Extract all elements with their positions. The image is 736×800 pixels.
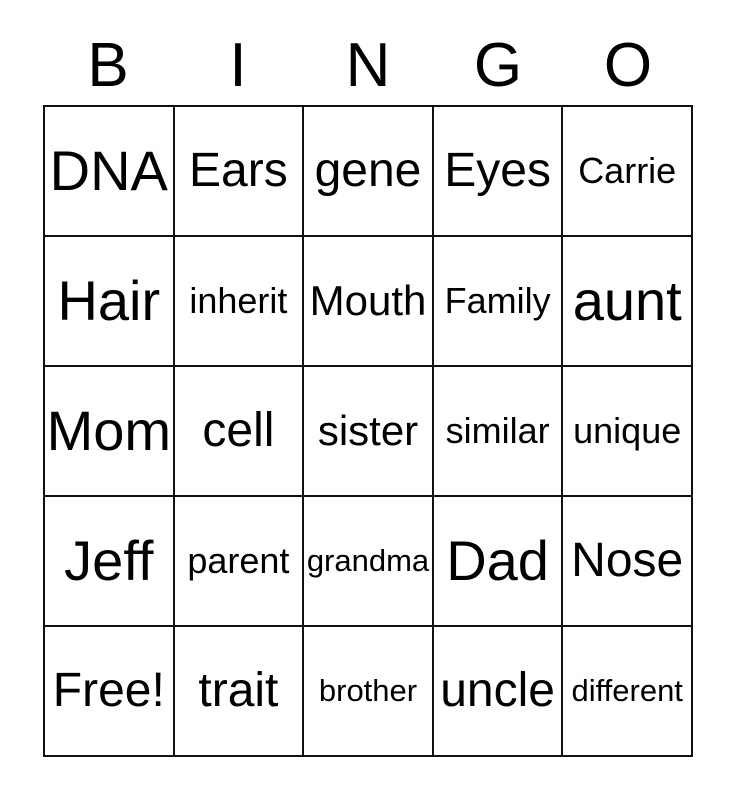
bingo-cell-r2c4[interactable]: Family xyxy=(434,237,564,367)
bingo-cell-label: inherit xyxy=(189,282,287,320)
bingo-cell-r4c5[interactable]: Nose xyxy=(563,497,693,627)
bingo-cell-r2c1[interactable]: Hair xyxy=(45,237,175,367)
bingo-cell-label: Nose xyxy=(571,536,683,586)
bingo-cell-r2c5[interactable]: aunt xyxy=(563,237,693,367)
bingo-cell-r2c3[interactable]: Mouth xyxy=(304,237,434,367)
bingo-cell-r5c2[interactable]: trait xyxy=(175,627,305,757)
bingo-cell-r1c2[interactable]: Ears xyxy=(175,107,305,237)
bingo-cell-label: unique xyxy=(573,412,681,450)
bingo-cell-label: Family xyxy=(445,282,551,320)
bingo-cell-r5c3[interactable]: brother xyxy=(304,627,434,757)
bingo-cell-label: DNA xyxy=(50,142,168,201)
bingo-cell-label: Hair xyxy=(57,272,160,331)
bingo-cell-label: brother xyxy=(319,675,417,708)
bingo-cell-r4c2[interactable]: parent xyxy=(175,497,305,627)
bingo-cell-label: Ears xyxy=(189,146,288,196)
bingo-cell-r4c1[interactable]: Jeff xyxy=(45,497,175,627)
bingo-cell-r1c5[interactable]: Carrie xyxy=(563,107,693,237)
bingo-cell-r1c3[interactable]: gene xyxy=(304,107,434,237)
bingo-cell-r1c1[interactable]: DNA xyxy=(45,107,175,237)
bingo-cell-r3c5[interactable]: unique xyxy=(563,367,693,497)
bingo-cell-label: Mom xyxy=(47,402,171,461)
bingo-cell-label: Dad xyxy=(446,532,549,591)
bingo-cell-label: uncle xyxy=(440,666,555,716)
bingo-cell-label: Free! xyxy=(53,666,165,716)
bingo-card: B I N G O DNAEarsgeneEyesCarrieHairinher… xyxy=(0,0,736,800)
bingo-cell-label: similar xyxy=(446,412,550,450)
bingo-cell-label: trait xyxy=(198,666,278,716)
bingo-cell-r3c4[interactable]: similar xyxy=(434,367,564,497)
bingo-cell-r5c4[interactable]: uncle xyxy=(434,627,564,757)
bingo-cell-r5c1[interactable]: Free! xyxy=(45,627,175,757)
header-letter-g: G xyxy=(433,30,563,102)
bingo-header: B I N G O xyxy=(43,30,693,102)
bingo-cell-r4c4[interactable]: Dad xyxy=(434,497,564,627)
header-letter-b: B xyxy=(43,30,173,102)
bingo-cell-label: parent xyxy=(187,542,289,580)
bingo-cell-r3c3[interactable]: sister xyxy=(304,367,434,497)
bingo-cell-label: cell xyxy=(202,406,274,456)
bingo-cell-label: Eyes xyxy=(444,146,551,196)
bingo-grid: DNAEarsgeneEyesCarrieHairinheritMouthFam… xyxy=(43,105,693,757)
bingo-cell-r2c2[interactable]: inherit xyxy=(175,237,305,367)
header-letter-n: N xyxy=(303,30,433,102)
bingo-cell-label: Jeff xyxy=(64,532,153,591)
bingo-cell-label: grandma xyxy=(307,545,429,578)
bingo-cell-r5c5[interactable]: different xyxy=(563,627,693,757)
bingo-cell-r1c4[interactable]: Eyes xyxy=(434,107,564,237)
bingo-cell-label: different xyxy=(571,675,682,708)
bingo-cell-label: sister xyxy=(318,409,418,453)
bingo-cell-label: Carrie xyxy=(578,152,676,190)
bingo-cell-label: Mouth xyxy=(310,279,427,323)
bingo-cell-label: aunt xyxy=(573,272,682,331)
header-letter-i: I xyxy=(173,30,303,102)
bingo-cell-r4c3[interactable]: grandma xyxy=(304,497,434,627)
bingo-cell-r3c2[interactable]: cell xyxy=(175,367,305,497)
bingo-cell-r3c1[interactable]: Mom xyxy=(45,367,175,497)
header-letter-o: O xyxy=(563,30,693,102)
bingo-cell-label: gene xyxy=(315,146,422,196)
